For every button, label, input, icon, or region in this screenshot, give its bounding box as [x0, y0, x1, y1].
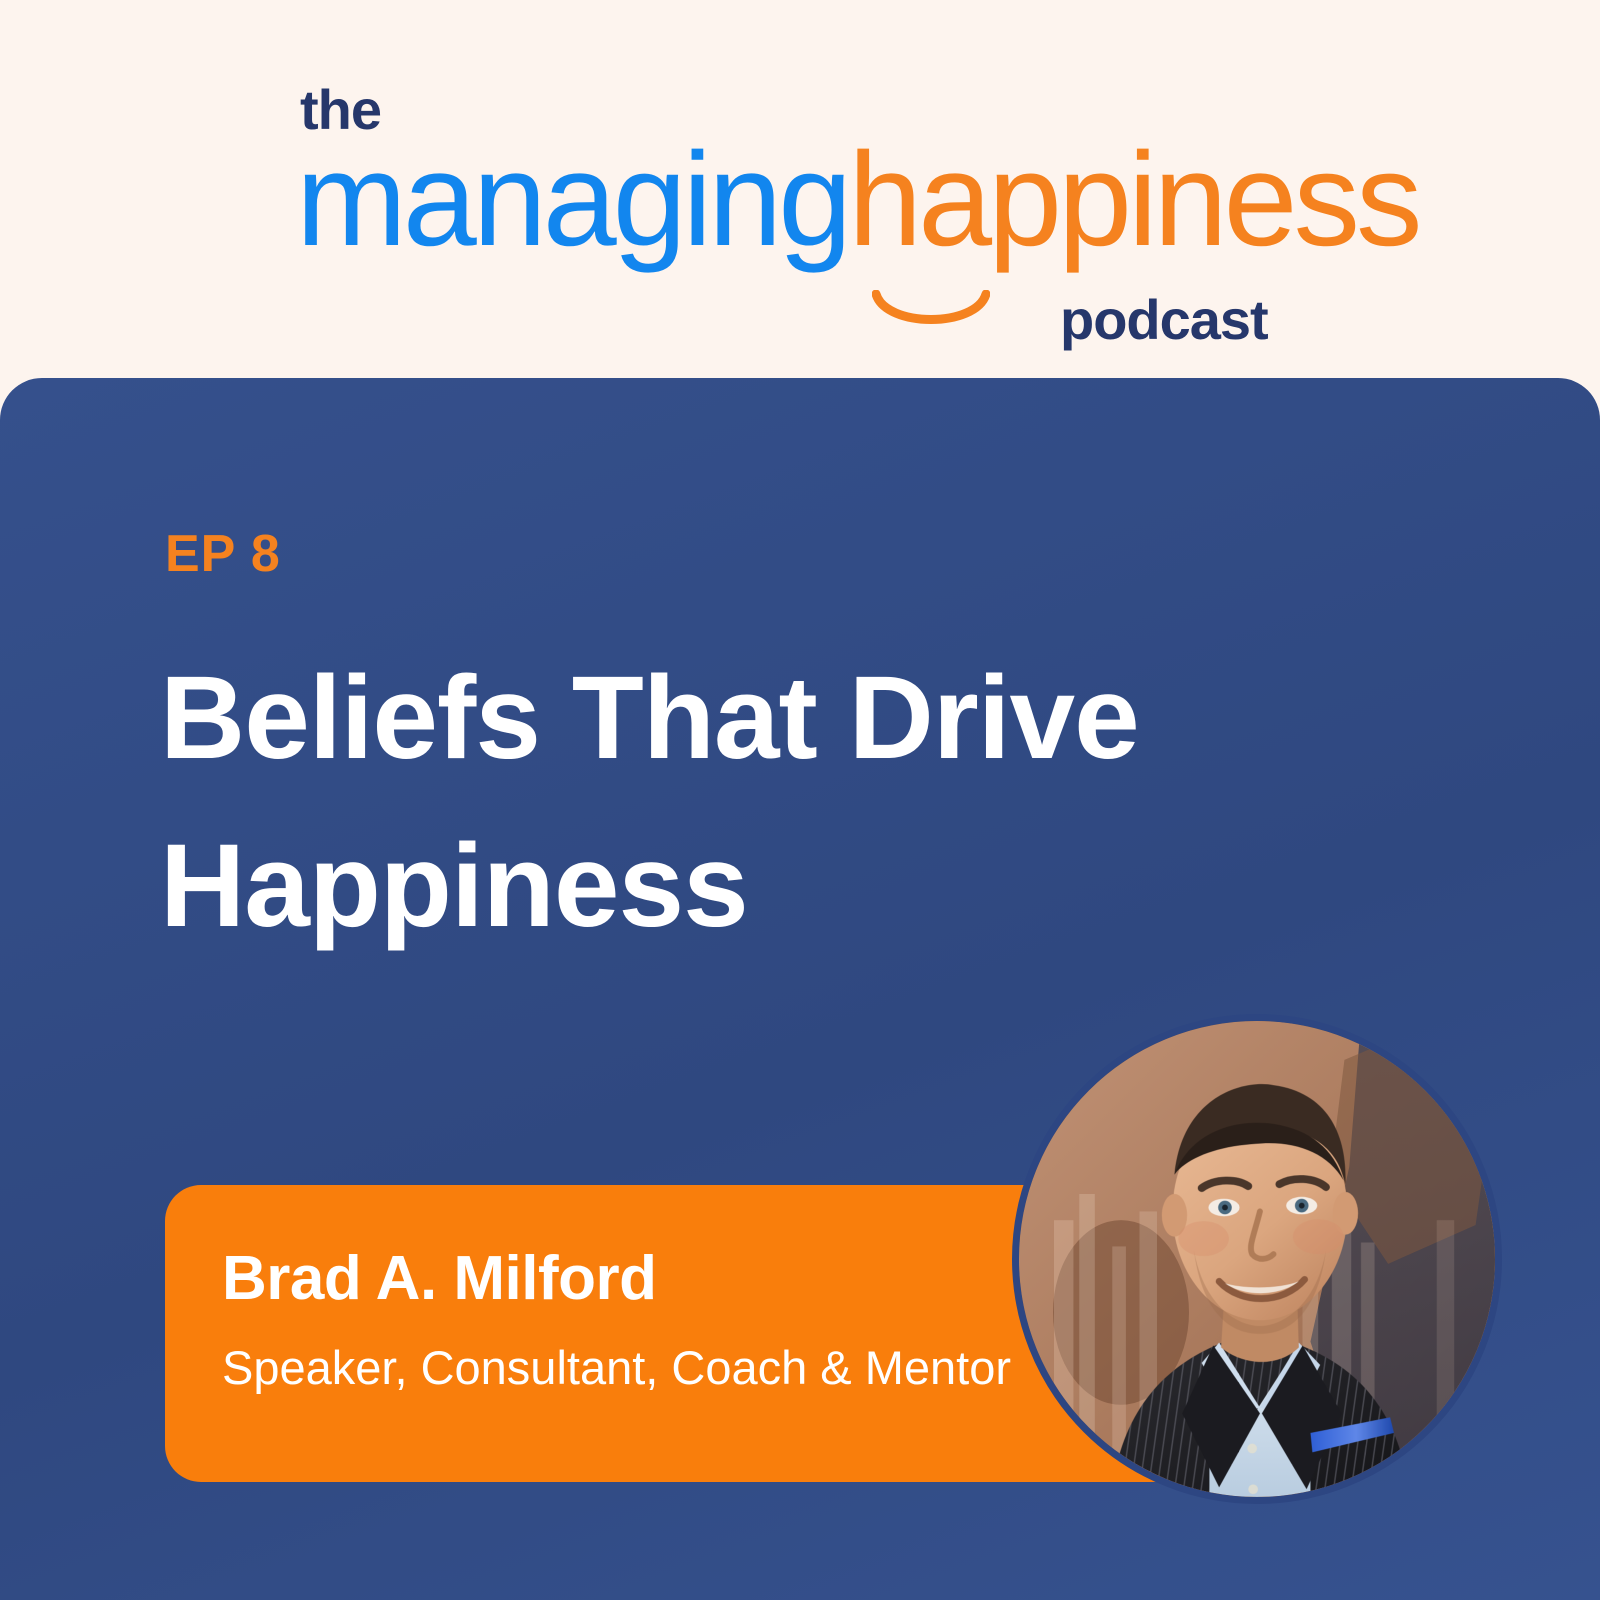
logo-managing-text: managing	[296, 126, 848, 274]
logo-podcast-text: podcast	[1060, 292, 1268, 348]
guest-name: Brad A. Milford	[222, 1248, 657, 1310]
guest-avatar	[1012, 1014, 1502, 1504]
logo-happiness-text: happiness	[848, 126, 1418, 274]
episode-title: Beliefs That Drive Happiness	[160, 635, 1390, 970]
podcast-cover-art: the managinghappiness podcast EP 8 Belie…	[0, 0, 1600, 1600]
guest-headshot-illustration	[1019, 1021, 1495, 1497]
episode-number-badge: EP 8	[165, 528, 281, 580]
logo-wordmark: managinghappiness	[296, 134, 1419, 267]
avatar-clip	[1019, 1021, 1495, 1497]
episode-card: EP 8 Beliefs That Drive Happiness Brad A…	[0, 378, 1600, 1600]
podcast-logo: the managinghappiness podcast	[0, 58, 1600, 308]
smile-curve-icon	[872, 290, 990, 336]
guest-role: Speaker, Consultant, Coach & Mentor	[222, 1344, 1011, 1391]
